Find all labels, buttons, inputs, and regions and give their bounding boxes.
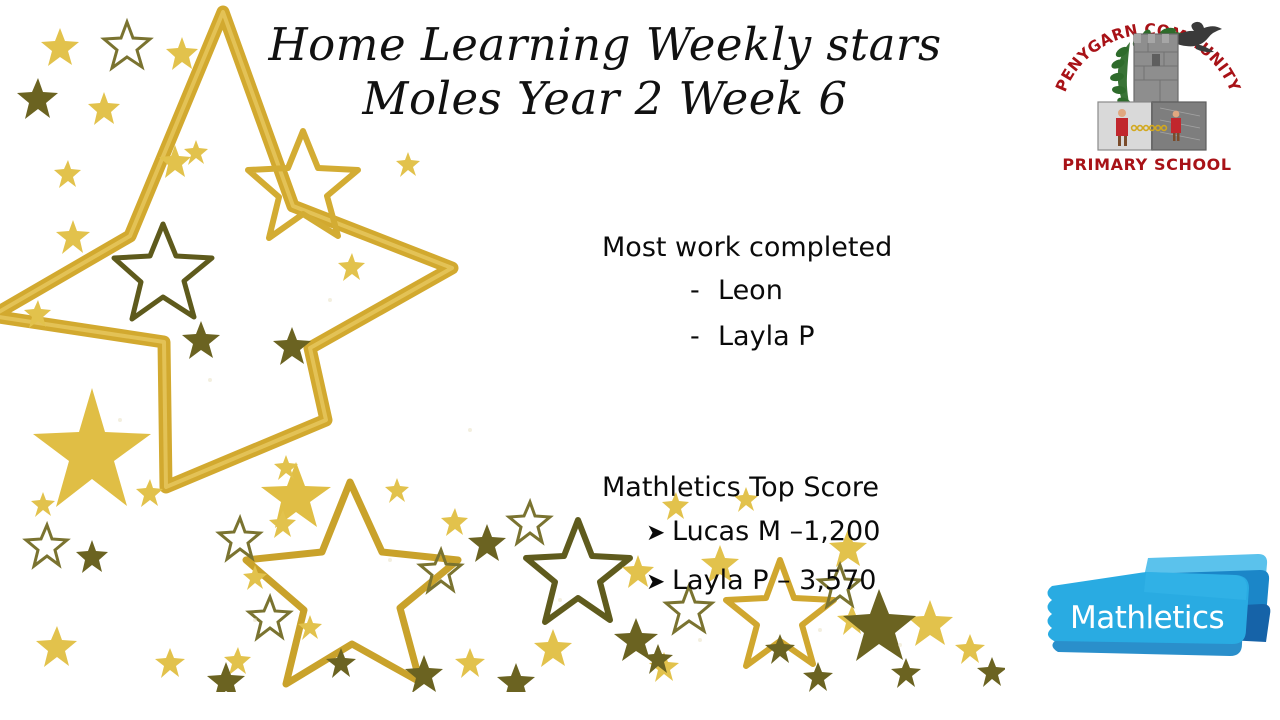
arrow-bullet-icon: ➤ (646, 509, 672, 557)
mathletics-top-score-heading: Mathletics Top Score (602, 468, 880, 508)
list-item-label: Layla P (718, 321, 814, 352)
dash-bullet: - (690, 314, 718, 360)
page-title: Home Learning Weekly stars Moles Year 2 … (190, 18, 1020, 126)
list-item: ➤Layla P – 3,570 (602, 557, 880, 606)
most-work-completed-heading: Most work completed (602, 228, 892, 268)
castle-tower-icon (1134, 34, 1178, 102)
mathletics-wordmark: Mathletics (1070, 600, 1260, 636)
slide-canvas: Home Learning Weekly stars Moles Year 2 … (0, 0, 1280, 720)
school-logo-bottom-text: PRIMARY SCHOOL (1062, 155, 1231, 174)
school-logo: PENYGARN COMMUNITY (1048, 8, 1246, 180)
dash-bullet: - (690, 268, 718, 314)
list-item: -Layla P (602, 314, 892, 360)
arrow-bullet-icon: ➤ (646, 558, 672, 606)
list-item: -Leon (602, 268, 892, 314)
title-line-2: Moles Year 2 Week 6 (190, 72, 1020, 126)
mathletics-top-score-section: Mathletics Top Score ➤Lucas M –1,200 ➤La… (602, 468, 880, 606)
list-item-label: Lucas M –1,200 (672, 516, 880, 547)
list-item: ➤Lucas M –1,200 (602, 508, 880, 557)
most-work-completed-section: Most work completed -Leon -Layla P (602, 228, 892, 360)
title-line-1: Home Learning Weekly stars (190, 18, 1020, 72)
list-item-label: Layla P – 3,570 (672, 565, 876, 596)
list-item-label: Leon (718, 275, 783, 306)
